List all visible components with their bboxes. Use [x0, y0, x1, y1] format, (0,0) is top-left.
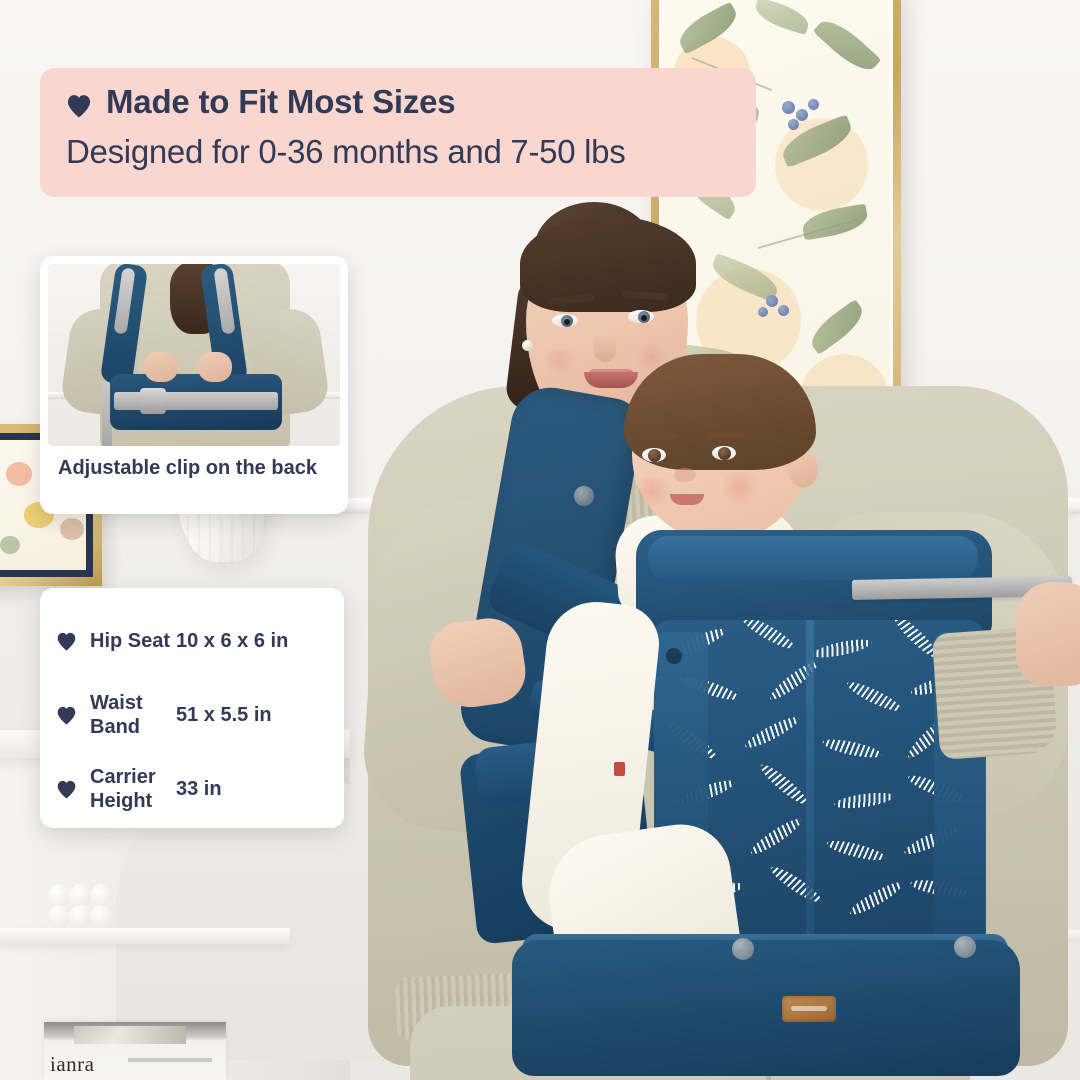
- mother-eye-left: [552, 314, 578, 327]
- spec-row-waist-band: Waist Band 51 x 5.5 in: [40, 678, 344, 752]
- heart-icon: [56, 780, 77, 799]
- book-title: ianra: [50, 1052, 94, 1077]
- baby-cheek-left: [630, 476, 674, 506]
- mother-nose: [594, 318, 616, 362]
- headline-banner: Made to Fit Most Sizes Designed for 0-36…: [40, 68, 756, 197]
- baby-eye-right: [712, 446, 736, 460]
- heart-icon: [56, 632, 77, 651]
- panel-buckle-hole-left: [666, 648, 682, 664]
- mother-cheek-left: [540, 348, 580, 374]
- spec-label: Hip Seat: [90, 629, 176, 653]
- mother-eye-right: [628, 310, 654, 323]
- carrier-hood-fold: [648, 536, 978, 580]
- red-brand-tag: [614, 762, 625, 776]
- bubble-candle: [48, 884, 114, 930]
- banner-title: Made to Fit Most Sizes: [106, 84, 455, 120]
- hip-seat-snap-right: [954, 936, 976, 958]
- mother-right-hand: [1016, 582, 1080, 686]
- spec-label: Carrier Height: [90, 765, 176, 813]
- spec-value: 51 x 5.5 in: [176, 704, 272, 727]
- panel-center-seam: [806, 620, 814, 950]
- heart-icon: [56, 706, 77, 725]
- mother-with-baby: [336, 150, 1080, 1080]
- spec-value: 33 in: [176, 778, 222, 801]
- baby-eye-left: [642, 448, 666, 462]
- spec-row-carrier-height: Carrier Height 33 in: [40, 752, 344, 826]
- baby-cheek-right: [718, 472, 762, 502]
- stacked-books: ianra: [44, 1022, 226, 1080]
- strap-snap-button: [574, 486, 594, 506]
- heart-icon: [66, 94, 92, 118]
- mother-mouth: [584, 372, 638, 388]
- inset-card-caption: Adjustable clip on the back: [58, 456, 332, 481]
- carrier-hip-seat: [512, 940, 1020, 1076]
- book-subtitle-bar: [128, 1058, 212, 1062]
- book-cover-image: [74, 1026, 186, 1044]
- spec-label: Waist Band: [90, 691, 176, 739]
- specifications-card: Hip Seat 10 x 6 x 6 in Waist Band 51 x 5…: [40, 588, 344, 828]
- baby-nose: [674, 468, 696, 482]
- inset-photo-back-clip: [48, 264, 340, 446]
- spec-value: 10 x 6 x 6 in: [176, 630, 288, 653]
- spec-row-hip-seat: Hip Seat 10 x 6 x 6 in: [40, 604, 344, 678]
- banner-subtitle: Designed for 0-36 months and 7-50 lbs: [66, 133, 756, 171]
- mother-earring: [522, 340, 533, 351]
- fireplace-shelf: [0, 928, 290, 944]
- feature-inset-card: Adjustable clip on the back: [40, 256, 348, 514]
- product-infographic: ianra: [0, 0, 1080, 1080]
- brand-leather-logo-tag: [782, 996, 836, 1022]
- hip-seat-snap-left: [732, 938, 754, 960]
- mother-hair-front: [520, 216, 696, 312]
